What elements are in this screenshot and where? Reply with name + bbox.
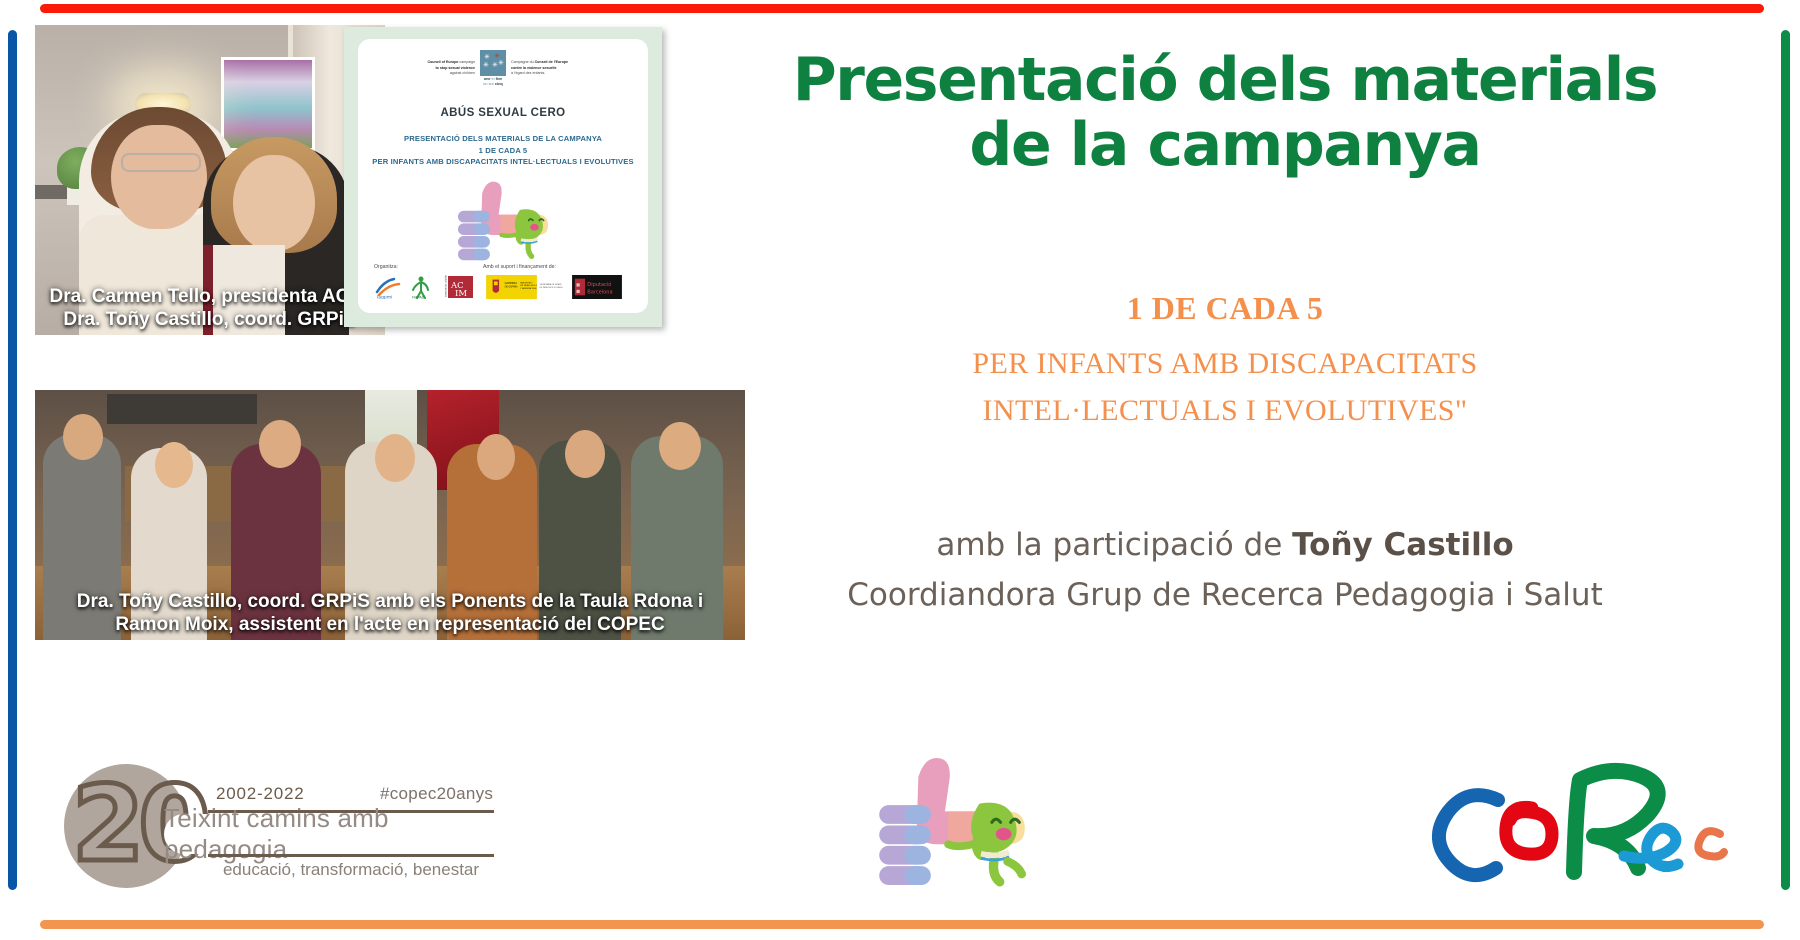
photo1-person-left-face [111, 125, 207, 229]
svg-text:associacio catalana: associacio catalana [444, 275, 448, 297]
coe-flag-icon: ✳ ✳ ✳ ✳ ✳ [480, 50, 506, 76]
subtitle-line3: INTEL·LECTUALS I EVOLUTIVES" [690, 388, 1760, 435]
svg-text:laqpmi: laqpmi [377, 295, 392, 300]
svg-text:MINISTERIO: MINISTERIO [520, 282, 532, 284]
photo2-person-5-head [477, 434, 515, 480]
thumbs-up-mascot-large [862, 742, 1042, 898]
flyer-title: ABÚS SEXUAL CERO [440, 107, 565, 119]
photo2-caption: Dra. Toñy Castillo, coord. GRPiS amb els… [35, 590, 745, 636]
flyer-subtitle-line1: PRESENTACIÓ DELS MATERIALS DE LA CAMPANY… [372, 133, 633, 145]
organiza-label: Organitza: [374, 264, 483, 270]
svg-text:GOBIERNO: GOBIERNO [505, 282, 518, 285]
photo-group-ponents: Dra. Toñy Castillo, coord. GRPiS amb els… [35, 390, 745, 640]
svg-text:Barcelona: Barcelona [587, 289, 612, 295]
page-title-line1: Presentació dels materials [690, 48, 1760, 113]
thumbs-up-icon-large [862, 742, 1042, 898]
council-of-europe-logo-block: Council of Europe campaign to stop sexua… [417, 50, 589, 87]
photo2-person-4-head [375, 434, 415, 482]
oif-one: one [484, 77, 491, 81]
photo1-caption: Dra. Carmen Tello, presidenta ACIM Dra. … [35, 285, 385, 331]
coe-fr-l1-light: Campagne du [511, 60, 535, 64]
flyer-supporters: Amb el suport i finançament de: GOBIERNO… [483, 264, 636, 299]
photo2-projection-screen [107, 394, 257, 424]
gobierno-espana-logo-icon: GOBIERNO DE ESPAÑA MINISTERIO DE DERECHO… [483, 275, 565, 299]
logo20-hashtag: #copec20anys [380, 784, 493, 804]
frame-bar-bottom [40, 920, 1764, 929]
flyer-mascot-illustration [447, 174, 559, 266]
coe-en-l3: against children [417, 71, 475, 77]
photo2-caption-line2: Ramon Moix, assistent en l'acte en repre… [41, 613, 739, 636]
subtitle-line1: 1 DE CADA 5 [690, 290, 1760, 327]
coe-english-text: Council of Europe campaign to stop sexua… [417, 60, 475, 77]
svg-text:▦: ▦ [576, 289, 580, 294]
page-title: Presentació dels materials de la campany… [690, 48, 1760, 178]
one-in-five-caption: one in five un sur cinq [480, 77, 506, 87]
photo2-caption-line1: Dra. Toñy Castillo, coord. GRPiS amb els… [41, 590, 739, 613]
photo1-person-left-glasses [121, 153, 201, 172]
subtitle-line2: PER INFANTS AMB DISCAPACITATS [690, 341, 1760, 388]
logo20-tagline: educació, transformació, benestar [208, 860, 494, 880]
logo20-slogan-pill: Teixint camins amb pedagogia [164, 814, 494, 854]
svg-text:▦: ▦ [576, 282, 580, 287]
copec-logo [1420, 752, 1750, 892]
coe-fr-l2: contre la violence sexuelle [511, 66, 557, 70]
coe-fr-l3: à l'égard des enfants. [511, 71, 589, 77]
oif-cinq: cinq [494, 82, 503, 86]
credit-speaker-name: Toñy Castillo [1292, 527, 1514, 563]
photo2-person-2-head [155, 442, 193, 488]
svg-text:Diputació: Diputació [587, 281, 611, 288]
frame-bar-left [8, 30, 17, 890]
coe-french-text: Campagne du Conseil de l'Europe contre l… [511, 60, 589, 77]
photo2-person-1-head [63, 414, 103, 460]
photo1-person-right-face [233, 155, 315, 251]
flyer-subtitle-line3: PER INFANTS AMB DISCAPACITATS INTEL·LECT… [372, 156, 633, 168]
page-title-line2: de la campanya [690, 113, 1760, 178]
one-in-five-emblem: ✳ ✳ ✳ ✳ ✳ one in five un sur cinq [480, 50, 506, 87]
speaker-credit: amb la participació de Toñy Castillo Coo… [690, 520, 1760, 620]
acim-logo-icon: AC IM associacio catalana [440, 275, 474, 299]
logo20-rule-bottom [208, 854, 494, 857]
fiapas-logo-icon: FIAPAS [409, 275, 435, 299]
diputacio-barcelona-logo-icon: ▦ ▦ Diputació Barcelona [570, 275, 624, 299]
photo1-caption-line1: Dra. Carmen Tello, presidenta ACIM [41, 285, 379, 308]
support-logo-row: GOBIERNO DE ESPAÑA MINISTERIO DE DERECHO… [483, 275, 636, 299]
coe-en-l1-light: campaign [458, 60, 475, 64]
oif-five: five [496, 77, 503, 81]
svg-text:FIAPAS: FIAPAS [412, 296, 425, 300]
svg-text:DE ESPAÑA: DE ESPAÑA [505, 285, 518, 288]
laqpmi-logo-icon: laqpmi [374, 275, 404, 299]
svg-text:IM: IM [455, 289, 467, 299]
copec-20-anys-logo: 20 2002-2022 #copec20anys Teixint camins… [58, 762, 508, 890]
subtitle-body: PER INFANTS AMB DISCAPACITATS INTEL·LECT… [690, 341, 1760, 434]
frame-bar-top [40, 4, 1764, 13]
credit-prefix: amb la participació de [936, 527, 1292, 563]
coe-fr-l1-bold: Conseil de l'Europe [535, 60, 568, 64]
support-label: Amb el suport i finançament de: [483, 264, 636, 270]
coe-en-l1-bold: Council of Europe [427, 60, 458, 64]
photo2-person-6-head [565, 430, 605, 478]
campaign-flyer-thumbnail: Council of Europe campaign to stop sexua… [344, 27, 662, 327]
flyer-subtitle-line2: 1 DE CADA 5 [372, 145, 633, 157]
flyer-organizers: Organitza: laqpmi FIAPAS [374, 264, 483, 299]
flyer-subtitle: PRESENTACIÓ DELS MATERIALS DE LA CAMPANY… [372, 133, 633, 168]
photo1-caption-line2: Dra. Toñy Castillo, coord. GRPiS [41, 308, 379, 331]
copec-signature-icon [1420, 752, 1750, 892]
photo2-person-3-head [259, 420, 301, 468]
logo20-years: 2002-2022 [216, 784, 305, 804]
credit-line2: Coordiandora Grup de Recerca Pedagogia i… [690, 570, 1760, 620]
campaign-subtitle: 1 DE CADA 5 PER INFANTS AMB DISCAPACITAT… [690, 290, 1760, 434]
photo-carmen-tello-tony-castillo: Dra. Carmen Tello, presidenta ACIM Dra. … [35, 25, 385, 335]
flyer-inner-card: Council of Europe campaign to stop sexua… [358, 39, 648, 313]
frame-bar-right [1781, 30, 1790, 890]
thumbs-up-icon [447, 174, 559, 266]
credit-line1: amb la participació de Toñy Castillo [690, 520, 1760, 570]
organiza-logo-row: laqpmi FIAPAS AC IM assoc [374, 275, 483, 299]
flyer-footer-logos: Organitza: laqpmi FIAPAS [374, 264, 636, 299]
poster-canvas: Dra. Carmen Tello, presidenta ACIM Dra. … [0, 0, 1800, 940]
coe-en-l2: to stop sexual violence [435, 66, 475, 70]
